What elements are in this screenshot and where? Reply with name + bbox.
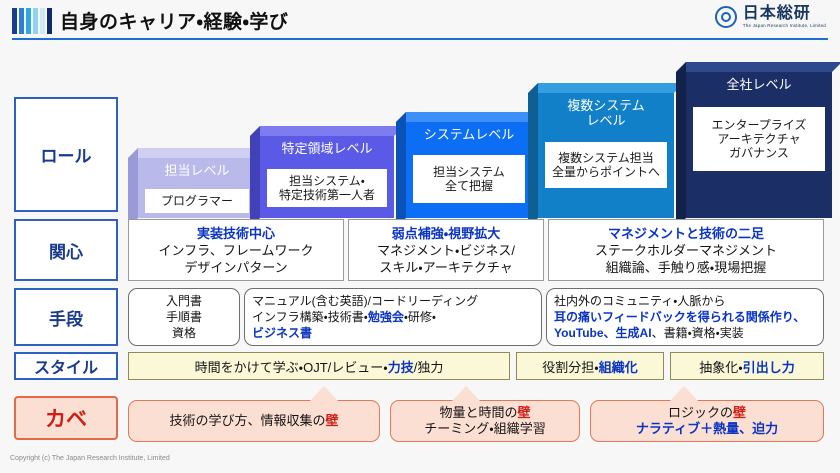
interest-box-3: マネジメントと技術の二足ステークホルダーマネジメント 組織論、手触り感・現場把握 — [548, 219, 824, 281]
role-step-4: 複数システム レベル複数システム担当 全量からポイントへ — [528, 83, 674, 218]
step-top-face — [396, 112, 542, 122]
interest-title: 実装技術中心 — [129, 225, 343, 242]
text-run: 、書籍・資格・実装 — [652, 326, 744, 340]
means-line: 入門書 手順書 資格 — [136, 293, 232, 341]
step-body: 担当システム 全て把握 — [413, 155, 525, 203]
wall-box-1: 技術の学び方、情報収集の壁 — [128, 400, 380, 442]
text-run: 抽象化・ — [699, 357, 742, 376]
title-bar-decoration — [12, 8, 52, 34]
title-bar-4 — [33, 8, 38, 34]
means-box-3: 社内外のコミュニティ・人脈から耳の痛いフィードバックを得られる関係作り、YouT… — [546, 288, 824, 346]
step-header: システムレベル — [406, 122, 532, 155]
role-step-2: 特定領域レベル担当システム・ 特定技術第一人者 — [250, 126, 394, 218]
means-line: 社内外のコミュニティ・人脈から — [554, 293, 816, 309]
style-box-2: 役割分担・組織化 — [516, 352, 664, 380]
text-run: 壁 — [518, 405, 531, 420]
wall-line: ロジックの壁 — [591, 405, 823, 421]
step-top-face — [528, 83, 684, 93]
logo-name-jp: 日本総研 — [743, 6, 826, 22]
step-header: 全社レベル — [686, 72, 832, 107]
slide-header: 自身のキャリア・経験・学び 日本総研 The Japan Research In… — [0, 0, 840, 42]
logo-name-en: The Japan Research Institute, Limited — [743, 24, 826, 29]
means-line: 耳の痛いフィードバックを得られる関係作り、 — [554, 309, 816, 325]
step-header: 特定領域レベル — [260, 136, 394, 169]
role-step-3: システムレベル担当システム 全て把握 — [396, 112, 532, 218]
role-step-5: 全社レベルエンタープライズ アーキテクチャ ガバナンス — [676, 62, 832, 218]
wall-line: 物量と時間の壁 — [391, 405, 579, 421]
callout-pointer — [309, 386, 339, 402]
text-run: /独力 — [414, 357, 444, 376]
step-side-face — [676, 62, 686, 228]
step-header: 担当レベル — [138, 158, 256, 189]
row-label-means: 手段 — [14, 288, 118, 346]
row-label-style: スタイル — [14, 352, 118, 380]
row-label-wall: カベ — [14, 396, 118, 440]
interest-box-1: 実装技術中心インフラ、フレームワーク デザインパターン — [128, 219, 344, 281]
title-bar-3 — [26, 8, 31, 34]
wall-line: ナラティブ＋熱量、迫力 — [591, 421, 823, 437]
text-run: 技術の学び方、情報収集の — [169, 413, 325, 428]
logo-text: 日本総研 The Japan Research Institute, Limit… — [743, 6, 826, 29]
interest-detail: マネジメント・ビジネス/ スキル・アーキテクチャ — [349, 242, 543, 276]
callout-pointer — [451, 386, 481, 402]
title-bar-1 — [12, 8, 17, 34]
wall-line: チーミング・組織学習 — [391, 421, 579, 437]
style-box-3: 抽象化・引出し力 — [670, 352, 824, 380]
logo-circle-icon — [715, 6, 737, 28]
header-divider — [12, 38, 828, 40]
row-label-role: ロール — [14, 97, 118, 212]
text-run: 勉強会 — [368, 310, 404, 324]
text-run: 熱量、迫力 — [713, 421, 778, 436]
step-body: 複数システム担当 全量からポイントへ — [545, 142, 667, 188]
step-top-face — [250, 126, 404, 136]
step-side-face — [250, 126, 260, 228]
text-run: ビジネス書 — [252, 326, 312, 340]
means-box-1: 入門書 手順書 資格 — [128, 288, 240, 346]
interest-detail: ステークホルダーマネジメント 組織論、手触り感・現場把握 — [549, 242, 823, 276]
text-run: 力技 — [388, 357, 414, 376]
step-front-face: システムレベル担当システム 全て把握 — [406, 122, 532, 218]
text-run: ・研修・ — [404, 310, 436, 324]
wall-box-2: 物量と時間の壁チーミング・組織学習 — [390, 400, 580, 442]
step-body: エンタープライズ アーキテクチャ ガバナンス — [693, 107, 825, 171]
step-front-face: 担当レベルプログラマー — [138, 158, 256, 218]
title-bar-6 — [47, 8, 52, 34]
means-line: マニュアル(含む英語)/コードリーディング — [252, 293, 534, 309]
means-box-2: マニュアル(含む英語)/コードリーディングインフラ構築・技術書・勉強会・研修・ビ… — [244, 288, 542, 346]
step-header: 複数システム レベル — [538, 93, 674, 142]
text-run: 社内外のコミュニティ・人脈から — [554, 294, 725, 308]
means-line: YouTube、生成AI、書籍・資格・実装 — [554, 325, 816, 341]
text-run: インフラ構築・技術書・ — [252, 310, 368, 324]
style-box-1: 時間をかけて学ぶ・OJT/レビュー・力技/独力 — [128, 352, 510, 380]
text-run: 入門書 手順書 資格 — [166, 294, 202, 340]
title-bar-2 — [19, 8, 24, 34]
title-bar-5 — [40, 8, 45, 34]
text-run: 組織化 — [599, 357, 638, 376]
text-run: マニュアル(含む英語)/コードリーディング — [252, 294, 478, 308]
callout-pointer — [669, 386, 699, 402]
means-line: インフラ構築・技術書・勉強会・研修・ — [252, 309, 534, 325]
wall-box-3: ロジックの壁ナラティブ＋熱量、迫力 — [590, 400, 824, 442]
step-side-face — [396, 112, 406, 228]
step-side-face — [128, 148, 138, 228]
step-side-face — [528, 83, 538, 228]
company-logo: 日本総研 The Japan Research Institute, Limit… — [715, 6, 826, 29]
step-body: プログラマー — [145, 189, 249, 213]
means-line: ビジネス書 — [252, 325, 534, 341]
step-body: 担当システム・ 特定技術第一人者 — [267, 169, 387, 207]
interest-title: 弱点補強・視野拡大 — [349, 225, 543, 242]
text-run: 時間をかけて学ぶ・OJT/レビュー・ — [195, 357, 388, 376]
text-run: 耳の痛いフィードバックを得られる関係作り、 — [554, 310, 805, 324]
text-run: ロジックの — [668, 405, 733, 420]
text-run: ナラティブ＋ — [636, 421, 713, 436]
text-run: YouTube、生成AI — [554, 326, 652, 340]
text-run: 引出し力 — [743, 357, 795, 376]
interest-title: マネジメントと技術の二足 — [549, 225, 823, 242]
text-run: 役割分担・ — [542, 357, 598, 376]
text-run: 壁 — [326, 413, 339, 428]
step-front-face: 複数システム レベル複数システム担当 全量からポイントへ — [538, 93, 674, 218]
role-step-1: 担当レベルプログラマー — [128, 148, 256, 218]
step-front-face: 特定領域レベル担当システム・ 特定技術第一人者 — [260, 136, 394, 218]
interest-detail: インフラ、フレームワーク デザインパターン — [129, 242, 343, 276]
text-run: 物量と時間の — [439, 405, 517, 420]
page-title: 自身のキャリア・経験・学び — [60, 7, 288, 34]
step-top-face — [128, 148, 266, 158]
row-label-interest: 関心 — [14, 219, 118, 281]
text-run: 壁 — [733, 405, 746, 420]
step-front-face: 全社レベルエンタープライズ アーキテクチャ ガバナンス — [686, 72, 832, 218]
copyright-text: Copyright (c) The Japan Research Institu… — [10, 455, 170, 462]
text-run: チーミング・組織学習 — [424, 421, 545, 436]
interest-box-2: 弱点補強・視野拡大マネジメント・ビジネス/ スキル・アーキテクチャ — [348, 219, 544, 281]
wall-line: 技術の学び方、情報収集の壁 — [129, 413, 379, 429]
step-top-face — [676, 62, 840, 72]
